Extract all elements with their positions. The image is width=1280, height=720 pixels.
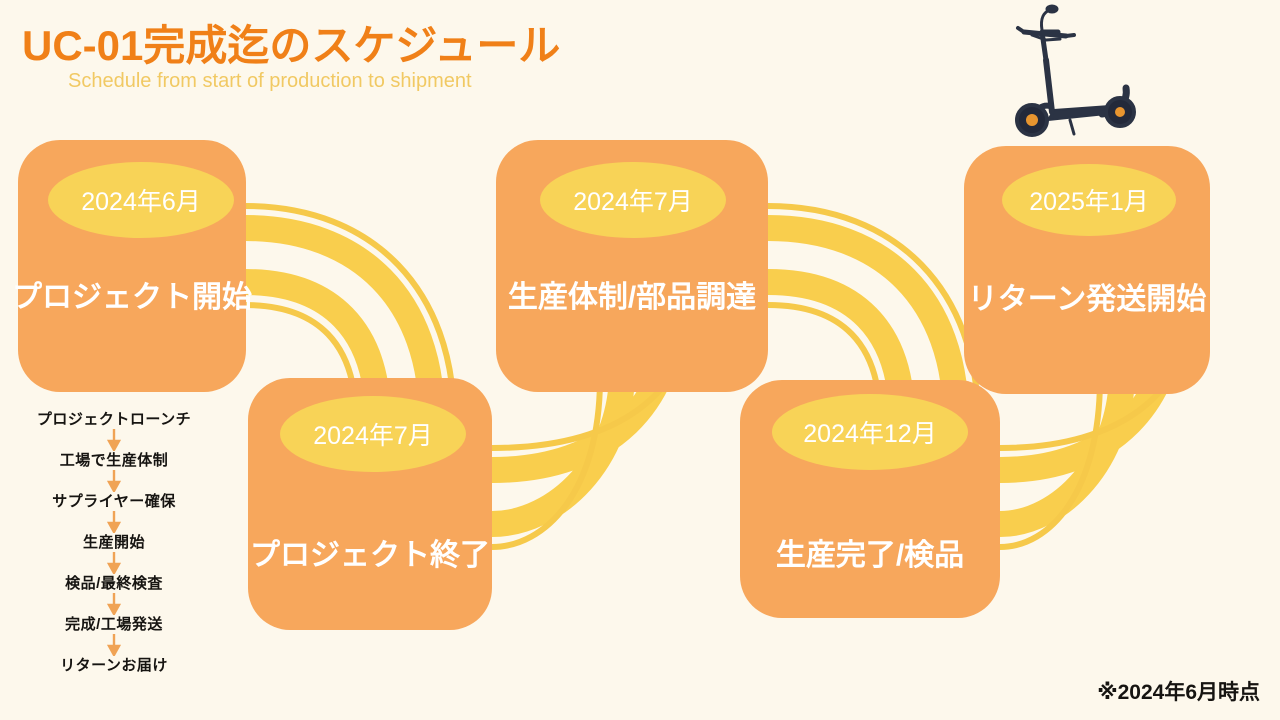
process-flow-list: プロジェクトローンチ 工場で生産体制 サプライヤー確保 生産開始 検品/最終検査…: [0, 412, 228, 673]
page-subtitle: Schedule from start of production to shi…: [68, 70, 472, 93]
milestone-date-badge-2: 2024年7月: [280, 396, 466, 472]
milestone-date-badge-1: 2024年6月: [48, 162, 234, 238]
flow-item: 完成/工場発送: [65, 617, 163, 632]
milestone-date-1: 2024年6月: [81, 182, 201, 218]
flow-item: 生産開始: [83, 535, 145, 550]
milestone-label-4: 生産完了/検品: [776, 530, 964, 574]
arrow-down-icon: [107, 429, 121, 451]
milestone-date-2: 2024年7月: [313, 416, 433, 452]
arrow-down-icon: [107, 552, 121, 574]
milestone-date-badge-3: 2024年7月: [540, 162, 726, 238]
arrow-down-icon: [107, 593, 121, 615]
electric-kick-scooter-icon: [1002, 2, 1162, 142]
arrow-down-icon: [107, 470, 121, 492]
milestone-card-5[interactable]: 2025年1月 リターン発送開始: [964, 146, 1210, 394]
milestone-card-1[interactable]: 2024年6月 プロジェクト開始: [18, 140, 246, 392]
milestone-card-4[interactable]: 2024年12月 生産完了/検品: [740, 380, 1000, 618]
footnote: ※2024年6月時点: [1097, 676, 1260, 706]
arrow-down-icon: [107, 634, 121, 656]
milestone-label-5: リターン発送開始: [968, 274, 1207, 318]
milestone-date-badge-4: 2024年12月: [772, 394, 968, 470]
flow-item: サプライヤー確保: [52, 494, 176, 509]
milestone-label-1: プロジェクト開始: [12, 272, 252, 316]
milestone-date-4: 2024年12月: [803, 414, 936, 450]
flow-item: プロジェクトローンチ: [37, 412, 191, 427]
milestone-date-5: 2025年1月: [1029, 182, 1149, 218]
milestone-date-badge-5: 2025年1月: [1002, 164, 1176, 236]
page-title: UC-01完成迄のスケジュール: [22, 12, 560, 73]
milestone-date-3: 2024年7月: [573, 182, 693, 218]
milestone-label-3-overlay: 生産体制/部品調達: [508, 272, 756, 316]
flow-item: 工場で生産体制: [60, 453, 169, 468]
flow-item: 検品/最終検査: [65, 576, 163, 591]
schedule-infographic: UC-01完成迄のスケジュール Schedule from start of p…: [0, 0, 1280, 720]
milestone-card-3[interactable]: 2024年7月: [496, 140, 768, 392]
arrow-down-icon: [107, 511, 121, 533]
flow-item: リターンお届け: [60, 658, 168, 673]
milestone-label-2: プロジェクト終了: [250, 530, 490, 574]
milestone-card-2[interactable]: 2024年7月 プロジェクト終了: [248, 378, 492, 630]
